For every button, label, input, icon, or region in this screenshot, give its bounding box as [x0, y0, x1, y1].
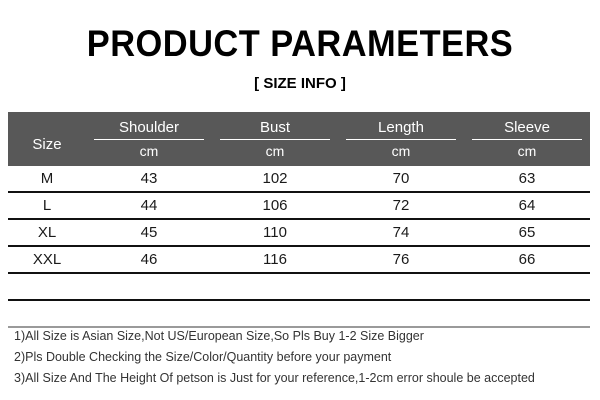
cell-sleeve: 64 [464, 192, 590, 219]
note-line: 3)All Size And The Height Of petson is J… [14, 368, 589, 389]
note-line: 2)Pls Double Checking the Size/Color/Qua… [14, 347, 589, 368]
size-chart-page: PRODUCT PARAMETERS [ SIZE INFO ] Size Sh… [0, 0, 600, 400]
column-header-length: Length cm [338, 112, 464, 166]
cell-shoulder: 43 [86, 166, 212, 192]
cell-empty [8, 300, 86, 327]
cell-empty [86, 273, 212, 300]
cell-bust: 102 [212, 166, 338, 192]
table-header: Size Shoulder cm Bust cm [8, 112, 590, 166]
table-body: M 43 102 70 63 L 44 106 72 64 XL 45 110 [8, 166, 590, 327]
column-header-bust: Bust cm [212, 112, 338, 166]
cell-size: XL [8, 219, 86, 246]
column-header-size: Size [8, 112, 86, 166]
column-header-sleeve: Sleeve cm [464, 112, 590, 166]
cell-size: XXL [8, 246, 86, 273]
column-header-bust-unit: cm [220, 140, 330, 161]
column-header-length-label: Length [346, 118, 456, 139]
cell-size: M [8, 166, 86, 192]
cell-empty [338, 273, 464, 300]
size-table-container: Size Shoulder cm Bust cm [8, 112, 590, 328]
cell-length: 70 [338, 166, 464, 192]
size-info-table: Size Shoulder cm Bust cm [8, 112, 590, 328]
cell-empty [464, 273, 590, 300]
table-row-empty [8, 273, 590, 300]
cell-empty [464, 300, 590, 327]
cell-bust: 106 [212, 192, 338, 219]
table-row-empty [8, 300, 590, 327]
cell-empty [212, 300, 338, 327]
cell-size: L [8, 192, 86, 219]
cell-shoulder: 46 [86, 246, 212, 273]
cell-sleeve: 66 [464, 246, 590, 273]
column-header-sleeve-unit: cm [472, 140, 582, 161]
column-header-bust-label: Bust [220, 118, 330, 139]
note-line: 1)All Size is Asian Size,Not US/European… [14, 326, 589, 347]
cell-empty [86, 300, 212, 327]
cell-empty [212, 273, 338, 300]
cell-sleeve: 65 [464, 219, 590, 246]
cell-bust: 116 [212, 246, 338, 273]
table-row: L 44 106 72 64 [8, 192, 590, 219]
cell-sleeve: 63 [464, 166, 590, 192]
cell-length: 72 [338, 192, 464, 219]
cell-empty [8, 273, 86, 300]
cell-length: 76 [338, 246, 464, 273]
cell-shoulder: 45 [86, 219, 212, 246]
cell-bust: 110 [212, 219, 338, 246]
column-header-shoulder: Shoulder cm [86, 112, 212, 166]
column-header-shoulder-unit: cm [94, 140, 204, 161]
section-subtitle: [ SIZE INFO ] [0, 74, 600, 94]
column-header-sleeve-label: Sleeve [472, 118, 582, 139]
cell-empty [338, 300, 464, 327]
column-header-length-unit: cm [346, 140, 456, 161]
page-title: PRODUCT PARAMETERS [21, 24, 579, 64]
notes-list: 1)All Size is Asian Size,Not US/European… [14, 326, 589, 389]
table-row: XL 45 110 74 65 [8, 219, 590, 246]
table-row: M 43 102 70 63 [8, 166, 590, 192]
table-row: XXL 46 116 76 66 [8, 246, 590, 273]
cell-shoulder: 44 [86, 192, 212, 219]
column-header-shoulder-label: Shoulder [94, 118, 204, 139]
table-header-row: Size Shoulder cm Bust cm [8, 112, 590, 166]
cell-length: 74 [338, 219, 464, 246]
